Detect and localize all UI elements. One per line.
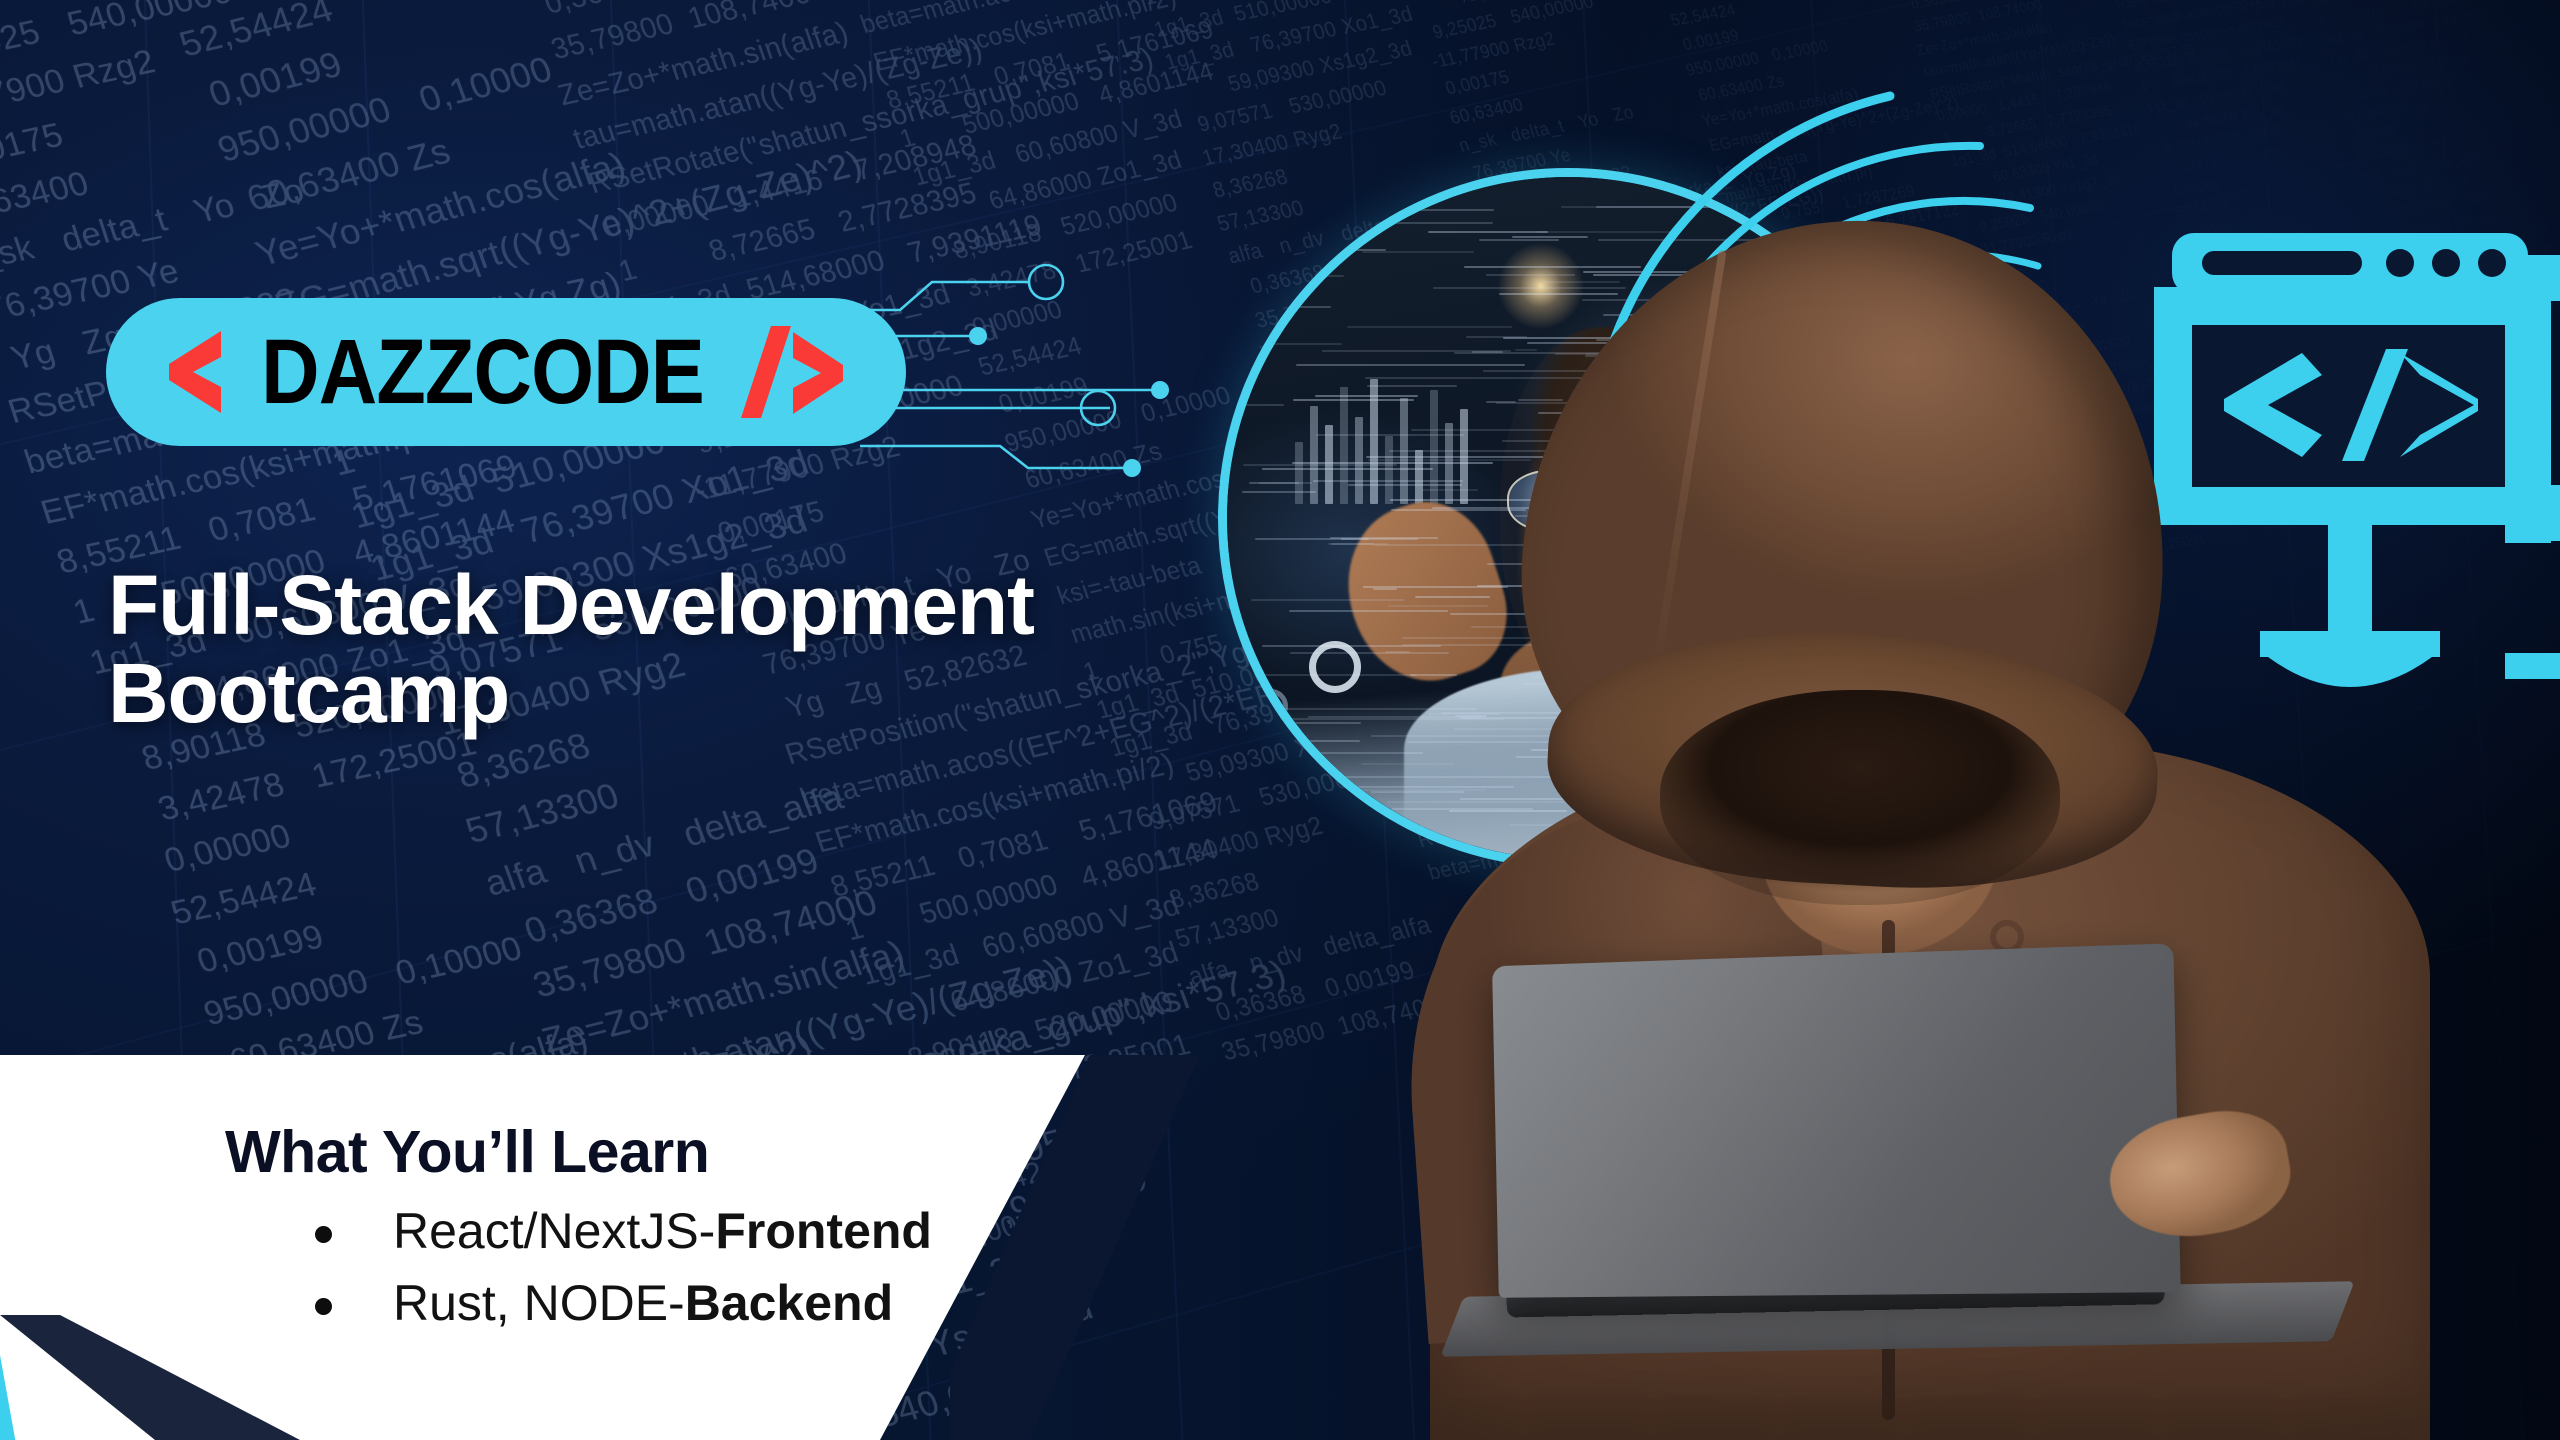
- code-stream-line: [1264, 343, 1342, 345]
- code-stream-line: [1330, 537, 1438, 539]
- brand-logo[interactable]: DAZZCODE: [106, 298, 906, 446]
- portrait-hud-ring-small: [1254, 689, 1288, 723]
- code-stream-line: [1296, 740, 1360, 742]
- code-stream-line: [1328, 543, 1388, 545]
- learn-list: React/NextJS-Frontend Rust, NODE-Backend: [225, 1200, 1125, 1334]
- code-stream-line: [1290, 752, 1423, 754]
- learn-heading: What You’ll Learn: [225, 1118, 1125, 1186]
- list-item: React/NextJS-Frontend: [285, 1200, 1125, 1262]
- headline-line-2: Bootcamp: [108, 649, 1288, 737]
- code-stream-line: [1316, 821, 1352, 823]
- code-stream-line: [1243, 464, 1397, 466]
- learn-item-1-prefix: Rust, NODE-: [393, 1275, 685, 1331]
- chevron-left-icon: [169, 331, 223, 413]
- code-stream-line: [1561, 206, 1770, 208]
- circuit-trace-decoration: [860, 250, 1280, 510]
- code-stream-line: [1260, 777, 1327, 779]
- person-hood-inner-shadow: [1660, 690, 2060, 905]
- code-stream-line: [1251, 599, 1404, 601]
- page-title: Full-Stack Development Bootcamp: [108, 561, 1288, 737]
- code-stream-line: [1330, 209, 1495, 211]
- code-stream-line: [1293, 399, 1414, 401]
- learn-item-0-emphasis: Frontend: [715, 1203, 932, 1259]
- code-stream-line: [1385, 651, 1411, 653]
- slash-close-tag-icon: [735, 326, 843, 418]
- headline-line-1: Full-Stack Development: [108, 558, 1034, 652]
- portrait-hud-ring: [1309, 641, 1361, 693]
- code-stream-line: [1262, 468, 1433, 470]
- code-stream-line: [1245, 404, 1284, 406]
- code-stream-line: [1315, 395, 1418, 397]
- what-you-will-learn-block: What You’ll Learn React/NextJS-Frontend …: [225, 1118, 1125, 1344]
- code-monitor-icon-secondary: [2505, 255, 2560, 725]
- code-stream-line: [1289, 610, 1448, 612]
- code-stream-line: [1373, 588, 1398, 590]
- learn-item-1-emphasis: Backend: [685, 1275, 893, 1331]
- banner-canvas: 0,00000 1,4416 7,208948 1 8,72665 2,7728…: [0, 0, 2560, 1440]
- code-stream-line: [1258, 306, 1332, 308]
- code-stream-line: [1272, 275, 1344, 277]
- code-stream-line: [1242, 491, 1316, 493]
- learn-item-0-prefix: React/NextJS-: [393, 1203, 715, 1259]
- code-stream-line: [1249, 482, 1299, 484]
- brand-logo-text: DAZZCODE: [262, 326, 705, 418]
- list-item: Rust, NODE-Backend: [285, 1272, 1125, 1334]
